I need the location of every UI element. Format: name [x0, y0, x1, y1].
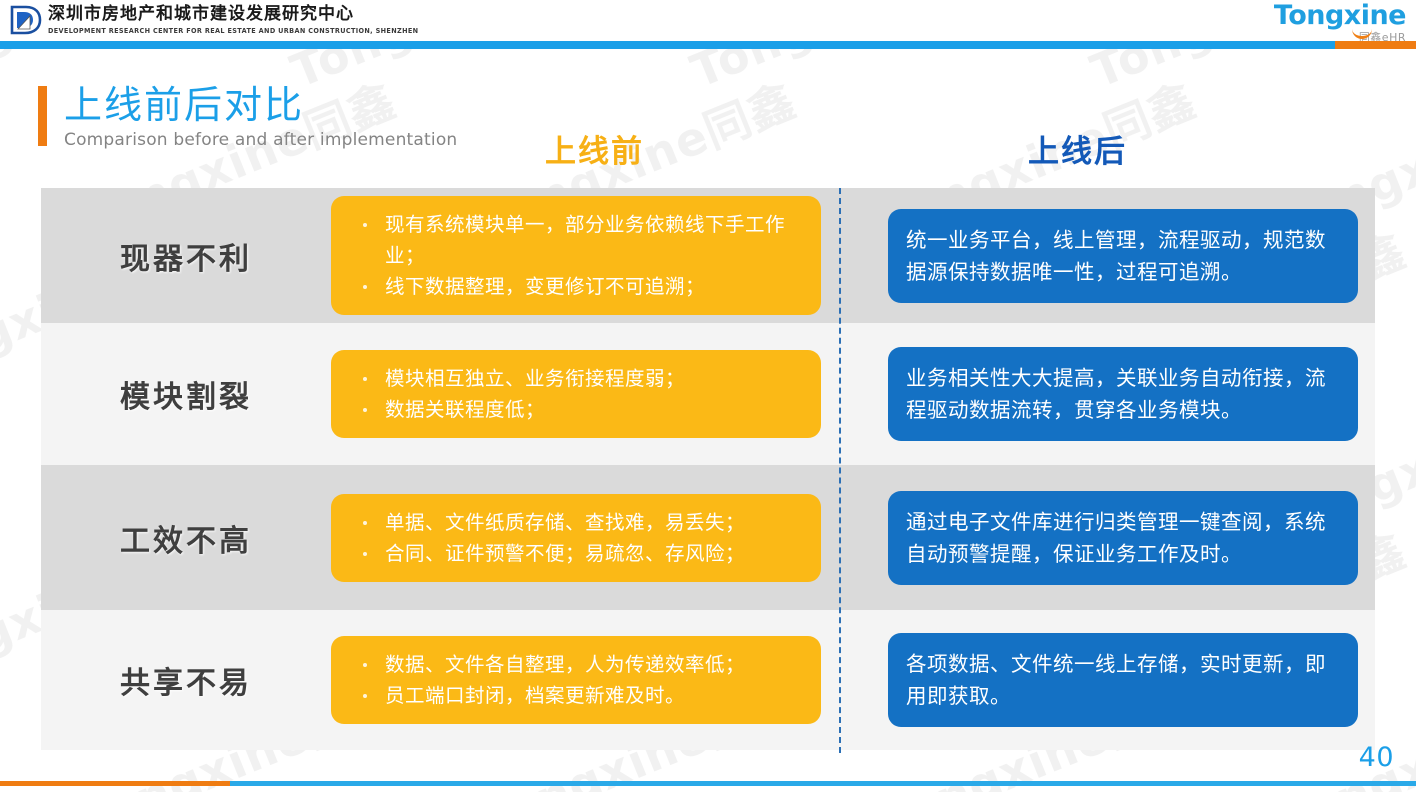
column-header-before: 上线前	[545, 126, 644, 171]
header-rule	[0, 41, 1416, 49]
row-before-cell: 数据、文件各自整理，人为传递效率低； 员工端口封闭，档案更新难及时。	[331, 636, 831, 724]
list-item: 员工端口封闭，档案更新难及时。	[349, 680, 803, 711]
list-item: 模块相互独立、业务衔接程度弱；	[349, 363, 803, 394]
list-item: 合同、证件预警不便；易疏忽、存风险；	[349, 538, 803, 569]
after-text: 各项数据、文件统一线上存储，实时更新，即用即获取。	[906, 648, 1340, 712]
comparison-table: 现器不利 现有系统模块单一，部分业务依赖线下手工作业； 线下数据整理，变更修订不…	[41, 188, 1375, 750]
after-box: 各项数据、文件统一线上存储，实时更新，即用即获取。	[888, 633, 1358, 727]
org-logo-icon	[10, 5, 42, 35]
row-label: 工效不高	[41, 516, 331, 560]
before-box: 模块相互独立、业务衔接程度弱； 数据关联程度低；	[331, 350, 821, 438]
table-row: 模块割裂 模块相互独立、业务衔接程度弱； 数据关联程度低； 业务相关性大大提高，…	[41, 323, 1375, 465]
before-box: 单据、文件纸质存储、查找难，易丢失； 合同、证件预警不便；易疏忽、存风险；	[331, 494, 821, 582]
table-row: 共享不易 数据、文件各自整理，人为传递效率低； 员工端口封闭，档案更新难及时。 …	[41, 610, 1375, 750]
brand-name: Tongxine	[1274, 2, 1406, 30]
table-row: 现器不利 现有系统模块单一，部分业务依赖线下手工作业； 线下数据整理，变更修订不…	[41, 188, 1375, 323]
column-header-after: 上线后	[1028, 126, 1127, 171]
org-name-block: 深圳市房地产和城市建设发展研究中心 DEVELOPMENT RESEARCH C…	[48, 4, 418, 35]
title-accent-bar	[38, 86, 47, 146]
after-text: 通过电子文件库进行归类管理一键查阅，系统自动预警提醒，保证业务工作及时。	[906, 506, 1340, 570]
row-after-cell: 通过电子文件库进行归类管理一键查阅，系统自动预警提醒，保证业务工作及时。	[866, 491, 1375, 585]
row-label: 现器不利	[41, 234, 331, 278]
list-item: 现有系统模块单一，部分业务依赖线下手工作业；	[349, 209, 803, 271]
row-before-cell: 现有系统模块单一，部分业务依赖线下手工作业； 线下数据整理，变更修订不可追溯；	[331, 196, 831, 315]
list-item: 线下数据整理，变更修订不可追溯；	[349, 271, 803, 302]
row-after-cell: 各项数据、文件统一线上存储，实时更新，即用即获取。	[866, 633, 1375, 727]
after-box: 通过电子文件库进行归类管理一键查阅，系统自动预警提醒，保证业务工作及时。	[888, 491, 1358, 585]
row-after-cell: 业务相关性大大提高，关联业务自动衔接，流程驱动数据流转，贯穿各业务模块。	[866, 347, 1375, 441]
after-box: 统一业务平台，线上管理，流程驱动，规范数据源保持数据唯一性，过程可追溯。	[888, 209, 1358, 303]
list-item: 数据、文件各自整理，人为传递效率低；	[349, 649, 803, 680]
table-row: 工效不高 单据、文件纸质存储、查找难，易丢失； 合同、证件预警不便；易疏忽、存风…	[41, 465, 1375, 610]
after-text: 业务相关性大大提高，关联业务自动衔接，流程驱动数据流转，贯穿各业务模块。	[906, 362, 1340, 426]
footer-rule	[0, 781, 1416, 786]
column-divider	[839, 188, 841, 753]
row-label: 共享不易	[41, 658, 331, 702]
list-item: 单据、文件纸质存储、查找难，易丢失；	[349, 507, 803, 538]
row-before-cell: 模块相互独立、业务衔接程度弱； 数据关联程度低；	[331, 350, 831, 438]
page-subtitle: Comparison before and after implementati…	[64, 129, 457, 151]
brand-block: Tongxine 同鑫eHR	[1274, 2, 1406, 44]
org-name-cn: 深圳市房地产和城市建设发展研究中心	[48, 4, 418, 25]
before-bullet-list: 现有系统模块单一，部分业务依赖线下手工作业； 线下数据整理，变更修订不可追溯；	[349, 209, 803, 302]
list-item: 数据关联程度低；	[349, 394, 803, 425]
before-box: 现有系统模块单一，部分业务依赖线下手工作业； 线下数据整理，变更修订不可追溯；	[331, 196, 821, 315]
row-before-cell: 单据、文件纸质存储、查找难，易丢失； 合同、证件预警不便；易疏忽、存风险；	[331, 494, 831, 582]
footer-rule-orange	[0, 781, 230, 786]
before-box: 数据、文件各自整理，人为传递效率低； 员工端口封闭，档案更新难及时。	[331, 636, 821, 724]
page-number: 40	[1359, 742, 1394, 773]
header-rule-orange	[1335, 41, 1416, 49]
before-bullet-list: 单据、文件纸质存储、查找难，易丢失； 合同、证件预警不便；易疏忽、存风险；	[349, 507, 803, 569]
before-bullet-list: 模块相互独立、业务衔接程度弱； 数据关联程度低；	[349, 363, 803, 425]
page-title: 上线前后对比	[64, 82, 457, 128]
page-header: 深圳市房地产和城市建设发展研究中心 DEVELOPMENT RESEARCH C…	[0, 0, 1416, 44]
after-box: 业务相关性大大提高，关联业务自动衔接，流程驱动数据流转，贯穿各业务模块。	[888, 347, 1358, 441]
page-title-block: 上线前后对比 Comparison before and after imple…	[38, 82, 457, 151]
after-text: 统一业务平台，线上管理，流程驱动，规范数据源保持数据唯一性，过程可追溯。	[906, 224, 1340, 288]
footer-rule-blue	[230, 781, 1416, 786]
org-name-en: DEVELOPMENT RESEARCH CENTER FOR REAL EST…	[48, 25, 418, 37]
row-after-cell: 统一业务平台，线上管理，流程驱动，规范数据源保持数据唯一性，过程可追溯。	[866, 209, 1375, 303]
row-label: 模块割裂	[41, 372, 331, 416]
before-bullet-list: 数据、文件各自整理，人为传递效率低； 员工端口封闭，档案更新难及时。	[349, 649, 803, 711]
header-rule-blue	[0, 41, 1335, 49]
